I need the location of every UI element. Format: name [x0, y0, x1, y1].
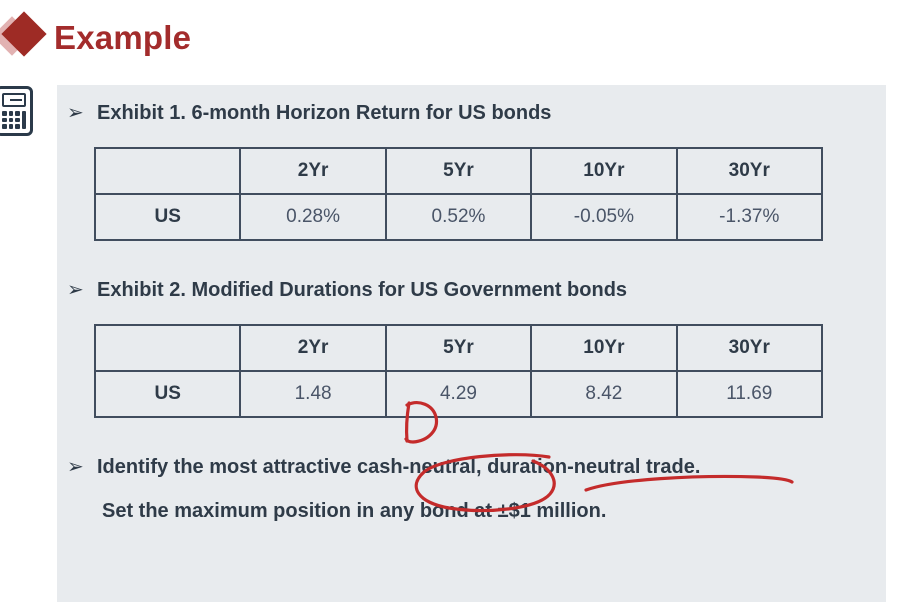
calculator-key — [2, 111, 7, 116]
table-header-cell-10yr: 10Yr — [531, 148, 676, 194]
task-line-1: ➢ Identify the most attractive cash-neut… — [67, 456, 700, 479]
slide-title-row: Example — [0, 8, 191, 68]
table-header-cell-2yr: 2Yr — [240, 148, 385, 194]
table-cell-us-5yr: 4.29 — [386, 371, 531, 417]
table-header-cell-5yr: 5Yr — [386, 325, 531, 371]
exhibit1-table: 2Yr 5Yr 10Yr 30Yr US 0.28% 0.52% -0.05% … — [94, 147, 823, 241]
table-row-label-us: US — [95, 371, 240, 417]
table-header-cell-5yr: 5Yr — [386, 148, 531, 194]
table-cell-us-2yr: 1.48 — [240, 371, 385, 417]
table-header-row: 2Yr 5Yr 10Yr 30Yr — [95, 325, 822, 371]
calculator-icon — [0, 86, 33, 136]
table-cell-us-5yr: 0.52% — [386, 194, 531, 240]
table-row: US 0.28% 0.52% -0.05% -1.37% — [95, 194, 822, 240]
exhibit1-heading-text: Exhibit 1. 6-month Horizon Return for US… — [97, 102, 551, 125]
calculator-key — [15, 118, 20, 123]
page-title: Example — [54, 19, 191, 57]
table-header-cell-10yr: 10Yr — [531, 325, 676, 371]
table-header-row: 2Yr 5Yr 10Yr 30Yr — [95, 148, 822, 194]
exhibit2-heading: ➢ Exhibit 2. Modified Durations for US G… — [67, 279, 627, 302]
exhibit2-heading-text: Exhibit 2. Modified Durations for US Gov… — [97, 279, 627, 302]
calculator-key — [2, 118, 7, 123]
calculator-keys — [2, 111, 26, 129]
table-cell-us-30yr: 11.69 — [677, 371, 822, 417]
content-panel: ➢ Exhibit 1. 6-month Horizon Return for … — [57, 85, 886, 602]
table-cell-us-10yr: 8.42 — [531, 371, 676, 417]
arrow-bullet-icon: ➢ — [67, 102, 97, 122]
table-header-cell-30yr: 30Yr — [677, 148, 822, 194]
task-line-2-text: Set the maximum position in any bond at … — [102, 500, 606, 523]
table-header-cell-2yr: 2Yr — [240, 325, 385, 371]
calculator-key — [15, 111, 20, 116]
calculator-key — [9, 111, 14, 116]
calculator-key-enter — [22, 111, 27, 129]
calculator-key — [9, 124, 14, 129]
calculator-screen — [2, 93, 26, 107]
table-row: US 1.48 4.29 8.42 11.69 — [95, 371, 822, 417]
table-row-label-us: US — [95, 194, 240, 240]
exhibit2-table: 2Yr 5Yr 10Yr 30Yr US 1.48 4.29 8.42 11.6… — [94, 324, 823, 418]
diamond-icon — [0, 10, 50, 66]
calculator-key — [2, 124, 7, 129]
table-corner-cell — [95, 325, 240, 371]
arrow-bullet-icon: ➢ — [67, 456, 97, 476]
task-line-2: Set the maximum position in any bond at … — [102, 500, 606, 523]
table-cell-us-10yr: -0.05% — [531, 194, 676, 240]
calculator-key — [15, 124, 20, 129]
arrow-bullet-icon: ➢ — [67, 279, 97, 299]
task-line-1-text: Identify the most attractive cash-neutra… — [97, 456, 700, 479]
table-cell-us-30yr: -1.37% — [677, 194, 822, 240]
table-header-cell-30yr: 30Yr — [677, 325, 822, 371]
table-corner-cell — [95, 148, 240, 194]
exhibit1-heading: ➢ Exhibit 1. 6-month Horizon Return for … — [67, 102, 551, 125]
calculator-key — [9, 118, 14, 123]
table-cell-us-2yr: 0.28% — [240, 194, 385, 240]
